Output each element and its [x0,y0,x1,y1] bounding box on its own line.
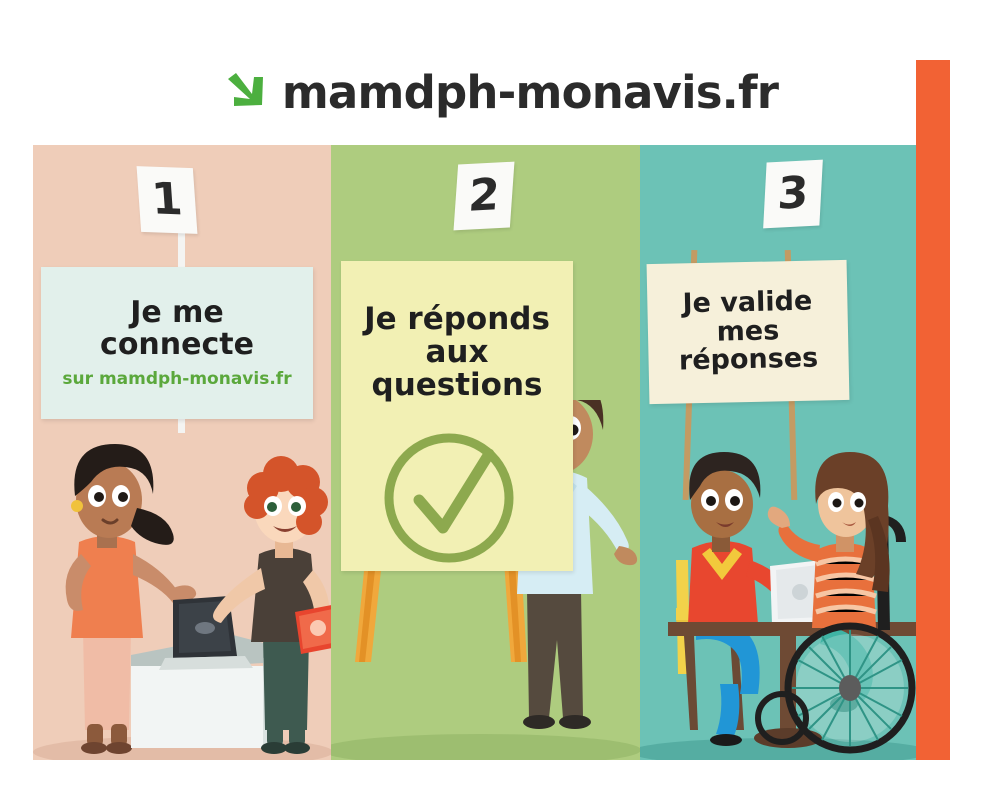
step-number-card-3: 3 [763,160,823,229]
brand-title: mamdph-monavis.fr [282,70,778,115]
step-subtitle-1: sur mamdph-monavis.fr [62,370,291,389]
step-sign-1: Je me connecte sur mamdph-monavis.fr [41,267,313,419]
step-title-line: réponses [679,345,819,377]
step-title-line: questions [372,369,543,402]
accent-bar [916,60,950,760]
step-title-line: Je valide [682,288,812,319]
step-title-line: Je me [130,297,224,329]
step-panel-1: 1 Je me connecte sur mamdph-monavis.fr [33,145,331,760]
step-number-1: 1 [150,178,184,223]
step-number-2: 2 [467,173,501,219]
illustration-two-people-laptop [33,430,331,760]
step-number-3: 3 [776,171,809,217]
step-title-line: connecte [100,329,254,361]
page-header: mamdph-monavis.fr [0,58,1000,126]
step-title-line: Je réponds [364,303,550,336]
steps-strip: 1 Je me connecte sur mamdph-monavis.fr [33,145,916,760]
green-checkmark-icon [377,428,537,568]
step-panel-3: 3 Je valide mes réponses [640,145,916,760]
step-sign-3: Je valide mes réponses [647,260,850,404]
step-title-line: mes [716,317,779,347]
step-title-line: aux [426,336,489,369]
step-number-card-1: 1 [137,166,198,234]
green-arrow-down-right-icon [222,69,268,115]
step-panel-2: Je réponds aux questions 2 [331,145,640,760]
illustration-laptop-and-wheelchair [640,430,916,760]
step-sign-2: Je réponds aux questions [341,261,573,571]
step-number-card-2: 2 [454,162,515,231]
